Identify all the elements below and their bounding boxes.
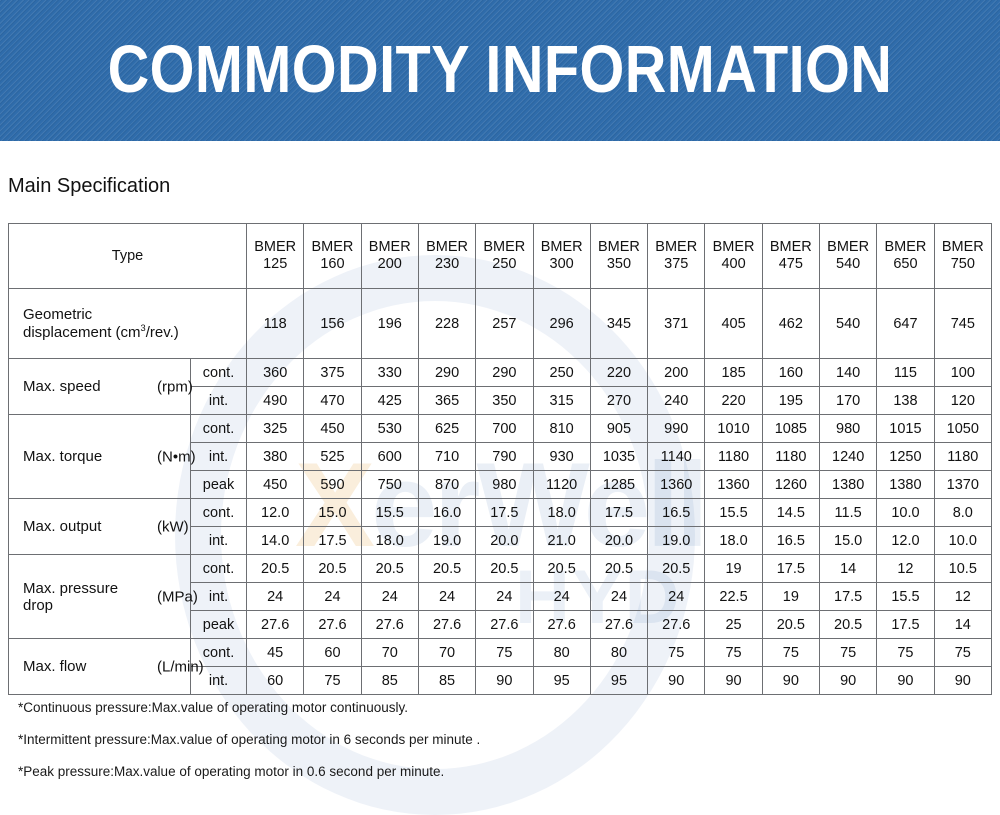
header-model-8: BMER400: [705, 224, 762, 289]
table-row: Max. flow(L/min)cont.4560707075808075757…: [9, 639, 992, 667]
row-subtype-1-0: cont.: [191, 359, 247, 387]
cell-3-0-10: 11.5: [819, 499, 876, 527]
cell-0-0-10: 540: [819, 289, 876, 359]
cell-2-0-2: 530: [361, 415, 418, 443]
cell-3-1-0: 14.0: [247, 527, 304, 555]
row-label-line1-3: Max. output: [23, 518, 101, 535]
cell-3-1-2: 18.0: [361, 527, 418, 555]
cell-2-1-12: 1180: [934, 443, 991, 471]
row-label-line1-1: Max. speed: [23, 378, 101, 395]
page-title: COMMODITY INFORMATION: [70, 34, 930, 106]
row-subtype-2-2: peak: [191, 471, 247, 499]
cell-2-2-1: 590: [304, 471, 361, 499]
cell-2-0-12: 1050: [934, 415, 991, 443]
cell-5-1-1: 75: [304, 667, 361, 695]
cell-2-1-11: 1250: [877, 443, 934, 471]
row-label-5: Max. flow(L/min): [9, 639, 191, 695]
row-label-line1-5: Max. flow: [23, 658, 86, 675]
cell-5-0-12: 75: [934, 639, 991, 667]
cell-2-2-7: 1360: [648, 471, 705, 499]
header-model-brand-0: BMER: [247, 239, 303, 256]
cell-4-2-9: 20.5: [762, 611, 819, 639]
cell-5-0-10: 75: [819, 639, 876, 667]
cell-5-1-6: 95: [590, 667, 647, 695]
cell-2-1-7: 1140: [648, 443, 705, 471]
cell-3-1-5: 21.0: [533, 527, 590, 555]
cell-4-0-9: 17.5: [762, 555, 819, 583]
header-type: Type: [9, 224, 247, 289]
cell-1-1-0: 490: [247, 387, 304, 415]
cell-1-1-8: 220: [705, 387, 762, 415]
cell-1-0-5: 250: [533, 359, 590, 387]
cell-4-1-4: 24: [476, 583, 533, 611]
cell-2-1-6: 1035: [590, 443, 647, 471]
cell-3-1-6: 20.0: [590, 527, 647, 555]
row-subtype-4-0: cont.: [191, 555, 247, 583]
table-body: Geometricdisplacement (cm3/rev.)11815619…: [9, 289, 992, 695]
cell-4-0-6: 20.5: [590, 555, 647, 583]
header-model-size-12: 750: [935, 256, 991, 273]
cell-4-0-4: 20.5: [476, 555, 533, 583]
cell-1-0-9: 160: [762, 359, 819, 387]
header-model-1: BMER160: [304, 224, 361, 289]
footnote-2: *Peak pressure:Max.value of operating mo…: [18, 764, 480, 779]
cell-5-0-3: 70: [418, 639, 475, 667]
header-model-12: BMER750: [934, 224, 991, 289]
header-model-10: BMER540: [819, 224, 876, 289]
cell-2-2-11: 1380: [877, 471, 934, 499]
cell-3-1-7: 19.0: [648, 527, 705, 555]
cell-0-0-2: 196: [361, 289, 418, 359]
cell-5-1-12: 90: [934, 667, 991, 695]
cell-2-1-4: 790: [476, 443, 533, 471]
cell-4-2-3: 27.6: [418, 611, 475, 639]
cell-5-1-9: 90: [762, 667, 819, 695]
cell-2-1-0: 380: [247, 443, 304, 471]
cell-5-1-3: 85: [418, 667, 475, 695]
cell-2-2-9: 1260: [762, 471, 819, 499]
cell-1-1-11: 138: [877, 387, 934, 415]
cell-5-1-10: 90: [819, 667, 876, 695]
cell-2-0-9: 1085: [762, 415, 819, 443]
cell-4-0-11: 12: [877, 555, 934, 583]
cell-3-0-9: 14.5: [762, 499, 819, 527]
row-subtype-2-0: cont.: [191, 415, 247, 443]
row-unit-1: (rpm): [157, 378, 193, 395]
cell-1-1-5: 315: [533, 387, 590, 415]
cell-5-1-4: 90: [476, 667, 533, 695]
header-model-size-11: 650: [877, 256, 933, 273]
cell-3-1-4: 20.0: [476, 527, 533, 555]
cell-1-1-9: 195: [762, 387, 819, 415]
row-label-1: Max. speed(rpm): [9, 359, 191, 415]
footnote-1: *Intermittent pressure:Max.value of oper…: [18, 732, 480, 747]
cell-5-0-11: 75: [877, 639, 934, 667]
table-row: Max. torque(N•m)cont.3254505306257008109…: [9, 415, 992, 443]
row-label-line2-0: displacement (cm3/rev.): [23, 323, 246, 341]
cell-4-0-10: 14: [819, 555, 876, 583]
header-model-2: BMER200: [361, 224, 418, 289]
cell-4-0-2: 20.5: [361, 555, 418, 583]
table-row: Max. speed(rpm)cont.36037533029029025022…: [9, 359, 992, 387]
cell-3-0-12: 8.0: [934, 499, 991, 527]
cell-2-2-6: 1285: [590, 471, 647, 499]
cell-1-1-7: 240: [648, 387, 705, 415]
cell-4-2-6: 27.6: [590, 611, 647, 639]
cell-0-0-6: 345: [590, 289, 647, 359]
cell-4-2-7: 27.6: [648, 611, 705, 639]
cell-5-1-8: 90: [705, 667, 762, 695]
header-model-0: BMER125: [247, 224, 304, 289]
row-subtype-3-1: int.: [191, 527, 247, 555]
page-banner: COMMODITY INFORMATION: [0, 0, 1000, 141]
cell-4-1-1: 24: [304, 583, 361, 611]
main-specification-table: Type BMER125 BMER160 BMER200 BMER230 BME…: [8, 223, 992, 695]
row-label-0: Geometricdisplacement (cm3/rev.): [9, 289, 247, 359]
cell-2-0-5: 810: [533, 415, 590, 443]
row-subtype-4-1: int.: [191, 583, 247, 611]
cell-2-0-8: 1010: [705, 415, 762, 443]
cell-0-0-1: 156: [304, 289, 361, 359]
header-model-brand-11: BMER: [877, 239, 933, 256]
cell-0-0-8: 405: [705, 289, 762, 359]
table-header-row: Type BMER125 BMER160 BMER200 BMER230 BME…: [9, 224, 992, 289]
cell-3-1-3: 19.0: [418, 527, 475, 555]
cell-5-0-2: 70: [361, 639, 418, 667]
cell-2-1-2: 600: [361, 443, 418, 471]
cell-2-2-8: 1360: [705, 471, 762, 499]
header-model-11: BMER650: [877, 224, 934, 289]
cell-0-0-4: 257: [476, 289, 533, 359]
header-model-brand-10: BMER: [820, 239, 876, 256]
cell-5-0-8: 75: [705, 639, 762, 667]
cell-2-0-0: 325: [247, 415, 304, 443]
cell-0-0-5: 296: [533, 289, 590, 359]
cell-4-2-4: 27.6: [476, 611, 533, 639]
row-subtype-3-0: cont.: [191, 499, 247, 527]
cell-5-0-4: 75: [476, 639, 533, 667]
row-label-line1-2: Max. torque: [23, 448, 102, 465]
header-model-3: BMER230: [418, 224, 475, 289]
cell-3-0-6: 17.5: [590, 499, 647, 527]
row-unit-4: (MPa): [157, 588, 198, 605]
cell-5-0-9: 75: [762, 639, 819, 667]
cell-1-0-11: 115: [877, 359, 934, 387]
cell-1-1-3: 365: [418, 387, 475, 415]
header-model-9: BMER475: [762, 224, 819, 289]
cell-4-2-0: 27.6: [247, 611, 304, 639]
cell-2-0-3: 625: [418, 415, 475, 443]
section-heading: Main Specification: [8, 175, 170, 198]
row-label-4: Max. pressuredrop(MPa): [9, 555, 191, 639]
header-model-size-5: 300: [534, 256, 590, 273]
header-model-7: BMER375: [648, 224, 705, 289]
cell-0-0-11: 647: [877, 289, 934, 359]
table-row: Geometricdisplacement (cm3/rev.)11815619…: [9, 289, 992, 359]
cell-5-1-2: 85: [361, 667, 418, 695]
cell-2-0-11: 1015: [877, 415, 934, 443]
header-model-brand-1: BMER: [304, 239, 360, 256]
cell-1-0-3: 290: [418, 359, 475, 387]
cell-3-0-5: 18.0: [533, 499, 590, 527]
cell-0-0-12: 745: [934, 289, 991, 359]
cell-4-2-2: 27.6: [361, 611, 418, 639]
cell-2-0-6: 905: [590, 415, 647, 443]
cell-4-1-0: 24: [247, 583, 304, 611]
cell-4-2-5: 27.6: [533, 611, 590, 639]
header-model-size-0: 125: [247, 256, 303, 273]
row-label-2: Max. torque(N•m): [9, 415, 191, 499]
cell-5-0-5: 80: [533, 639, 590, 667]
cell-2-1-3: 710: [418, 443, 475, 471]
cell-2-0-7: 990: [648, 415, 705, 443]
cell-1-0-8: 185: [705, 359, 762, 387]
cell-3-0-8: 15.5: [705, 499, 762, 527]
cell-1-0-7: 200: [648, 359, 705, 387]
header-model-size-3: 230: [419, 256, 475, 273]
cell-4-0-0: 20.5: [247, 555, 304, 583]
cell-4-1-8: 22.5: [705, 583, 762, 611]
cell-4-0-3: 20.5: [418, 555, 475, 583]
header-model-brand-4: BMER: [476, 239, 532, 256]
cell-3-0-1: 15.0: [304, 499, 361, 527]
cell-4-1-7: 24: [648, 583, 705, 611]
cell-5-1-7: 90: [648, 667, 705, 695]
cell-1-1-1: 470: [304, 387, 361, 415]
cell-4-0-5: 20.5: [533, 555, 590, 583]
header-model-size-8: 400: [705, 256, 761, 273]
cell-2-2-4: 980: [476, 471, 533, 499]
cell-4-1-5: 24: [533, 583, 590, 611]
cell-3-0-4: 17.5: [476, 499, 533, 527]
cell-2-2-3: 870: [418, 471, 475, 499]
main-specification-table-wrapper: Type BMER125 BMER160 BMER200 BMER230 BME…: [8, 223, 992, 695]
table-row: Max. output(kW)cont.12.015.015.516.017.5…: [9, 499, 992, 527]
cell-4-0-7: 20.5: [648, 555, 705, 583]
header-model-6: BMER350: [590, 224, 647, 289]
row-label-line1-4: Max. pressure: [23, 580, 118, 597]
cell-2-2-10: 1380: [819, 471, 876, 499]
cell-1-0-2: 330: [361, 359, 418, 387]
row-subtype-1-1: int.: [191, 387, 247, 415]
cell-1-1-6: 270: [590, 387, 647, 415]
cell-4-0-8: 19: [705, 555, 762, 583]
header-model-4: BMER250: [476, 224, 533, 289]
header-model-brand-3: BMER: [419, 239, 475, 256]
cell-3-1-11: 12.0: [877, 527, 934, 555]
cell-4-1-12: 12: [934, 583, 991, 611]
cell-3-0-2: 15.5: [361, 499, 418, 527]
cell-3-0-11: 10.0: [877, 499, 934, 527]
cell-3-1-8: 18.0: [705, 527, 762, 555]
cell-1-1-2: 425: [361, 387, 418, 415]
cell-0-0-0: 118: [247, 289, 304, 359]
header-model-size-10: 540: [820, 256, 876, 273]
footnote-0: *Continuous pressure:Max.value of operat…: [18, 700, 480, 715]
header-model-size-9: 475: [763, 256, 819, 273]
cell-5-1-11: 90: [877, 667, 934, 695]
cell-3-0-3: 16.0: [418, 499, 475, 527]
cell-5-0-1: 60: [304, 639, 361, 667]
cell-1-1-12: 120: [934, 387, 991, 415]
header-model-size-6: 350: [591, 256, 647, 273]
cell-4-2-10: 20.5: [819, 611, 876, 639]
header-model-5: BMER300: [533, 224, 590, 289]
cell-0-0-3: 228: [418, 289, 475, 359]
footnotes: *Continuous pressure:Max.value of operat…: [18, 700, 480, 796]
cell-4-1-9: 19: [762, 583, 819, 611]
cell-4-2-12: 14: [934, 611, 991, 639]
row-label-3: Max. output(kW): [9, 499, 191, 555]
cell-1-0-4: 290: [476, 359, 533, 387]
cell-2-0-4: 700: [476, 415, 533, 443]
header-model-brand-6: BMER: [591, 239, 647, 256]
header-model-brand-9: BMER: [763, 239, 819, 256]
cell-2-0-1: 450: [304, 415, 361, 443]
header-model-brand-12: BMER: [935, 239, 991, 256]
cell-2-1-1: 525: [304, 443, 361, 471]
cell-1-0-6: 220: [590, 359, 647, 387]
header-model-brand-8: BMER: [705, 239, 761, 256]
cell-3-1-1: 17.5: [304, 527, 361, 555]
header-model-size-1: 160: [304, 256, 360, 273]
cell-1-1-4: 350: [476, 387, 533, 415]
cell-4-2-11: 17.5: [877, 611, 934, 639]
row-label-line1-0: Geometric: [23, 306, 92, 323]
cell-5-1-0: 60: [247, 667, 304, 695]
cell-4-1-10: 17.5: [819, 583, 876, 611]
cell-2-0-10: 980: [819, 415, 876, 443]
row-unit-5: (L/min): [157, 658, 204, 675]
cell-2-2-12: 1370: [934, 471, 991, 499]
cell-2-2-5: 1120: [533, 471, 590, 499]
cell-3-0-7: 16.5: [648, 499, 705, 527]
row-subtype-4-2: peak: [191, 611, 247, 639]
cell-5-0-0: 45: [247, 639, 304, 667]
header-model-brand-7: BMER: [648, 239, 704, 256]
cell-2-2-2: 750: [361, 471, 418, 499]
header-model-size-4: 250: [476, 256, 532, 273]
cell-4-2-1: 27.6: [304, 611, 361, 639]
cell-3-0-0: 12.0: [247, 499, 304, 527]
cell-4-1-2: 24: [361, 583, 418, 611]
cell-0-0-9: 462: [762, 289, 819, 359]
cell-4-2-8: 25: [705, 611, 762, 639]
cell-5-1-5: 95: [533, 667, 590, 695]
header-model-brand-2: BMER: [362, 239, 418, 256]
cell-1-0-12: 100: [934, 359, 991, 387]
row-unit-3: (kW): [157, 518, 189, 535]
header-model-size-7: 375: [648, 256, 704, 273]
cell-3-1-9: 16.5: [762, 527, 819, 555]
cell-2-2-0: 450: [247, 471, 304, 499]
cell-1-1-10: 170: [819, 387, 876, 415]
cell-4-1-3: 24: [418, 583, 475, 611]
cell-4-0-12: 10.5: [934, 555, 991, 583]
cell-1-0-10: 140: [819, 359, 876, 387]
cell-3-1-12: 10.0: [934, 527, 991, 555]
table-row: Max. pressuredrop(MPa)cont.20.520.520.52…: [9, 555, 992, 583]
header-model-size-2: 200: [362, 256, 418, 273]
row-unit-2: (N•m): [157, 448, 196, 465]
cell-5-0-7: 75: [648, 639, 705, 667]
cell-2-1-9: 1180: [762, 443, 819, 471]
cell-4-0-1: 20.5: [304, 555, 361, 583]
cell-3-1-10: 15.0: [819, 527, 876, 555]
cell-1-0-0: 360: [247, 359, 304, 387]
row-subtype-2-1: int.: [191, 443, 247, 471]
cell-1-0-1: 375: [304, 359, 361, 387]
cell-2-1-5: 930: [533, 443, 590, 471]
cell-4-1-6: 24: [590, 583, 647, 611]
cell-2-1-10: 1240: [819, 443, 876, 471]
cell-5-0-6: 80: [590, 639, 647, 667]
cell-2-1-8: 1180: [705, 443, 762, 471]
cell-0-0-7: 371: [648, 289, 705, 359]
header-model-brand-5: BMER: [534, 239, 590, 256]
cell-4-1-11: 15.5: [877, 583, 934, 611]
